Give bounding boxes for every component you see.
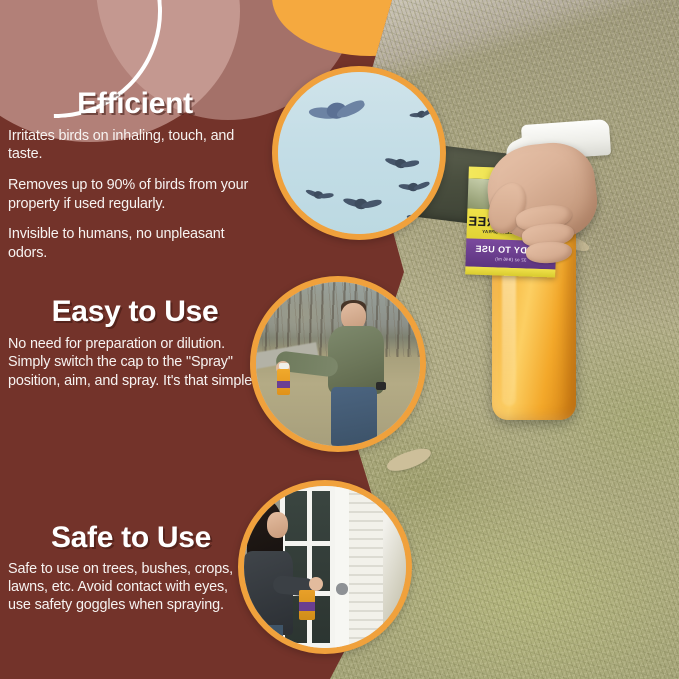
outdoor-scene (256, 282, 420, 446)
product-in-hand: FLOCK FREE BIRD REPELLENT SPRAY READY TO… (470, 120, 670, 450)
house-siding (348, 486, 384, 648)
house-entry-scene (244, 486, 406, 648)
feature-paragraph: Irritates birds on inhaling, touch, and … (8, 127, 262, 164)
feature-heading: Safe to Use (8, 522, 254, 554)
door-frame (333, 486, 349, 648)
label-size-text: 32 oz (946 ml) (495, 256, 527, 262)
door-mullion (307, 491, 312, 643)
photo-man-spraying (250, 276, 426, 452)
feature-paragraph: No need for preparation or dilution. Sim… (8, 335, 262, 391)
spray-bottle (299, 590, 315, 621)
feature-paragraph: Invisible to humans, no unpleasant odors… (8, 225, 262, 262)
photo-birds-flying (272, 66, 446, 240)
feature-paragraph: Safe to use on trees, bushes, crops, law… (8, 560, 254, 614)
door-knob (336, 583, 347, 594)
feature-paragraph: Removes up to 90% of birds from your pro… (8, 176, 262, 213)
feature-block-efficient: Efficient Irritates birds on inhaling, t… (0, 88, 270, 263)
jeans (331, 387, 377, 446)
feature-heading: Efficient (8, 88, 262, 120)
feature-block-easy-to-use: Easy to Use No need for preparation or d… (0, 296, 270, 391)
spray-bottle (277, 369, 290, 395)
door-mullion (285, 541, 330, 546)
head (267, 512, 288, 538)
wristwatch (376, 382, 386, 390)
photo-woman-spraying (238, 480, 412, 654)
sky-background (278, 72, 440, 234)
product-infographic: FLOCK FREE BIRD REPELLENT SPRAY READY TO… (0, 0, 679, 679)
feature-block-safe-to-use: Safe to Use Safe to use on trees, bushes… (0, 522, 262, 614)
feature-heading: Easy to Use (8, 296, 262, 328)
jeans (247, 625, 283, 651)
